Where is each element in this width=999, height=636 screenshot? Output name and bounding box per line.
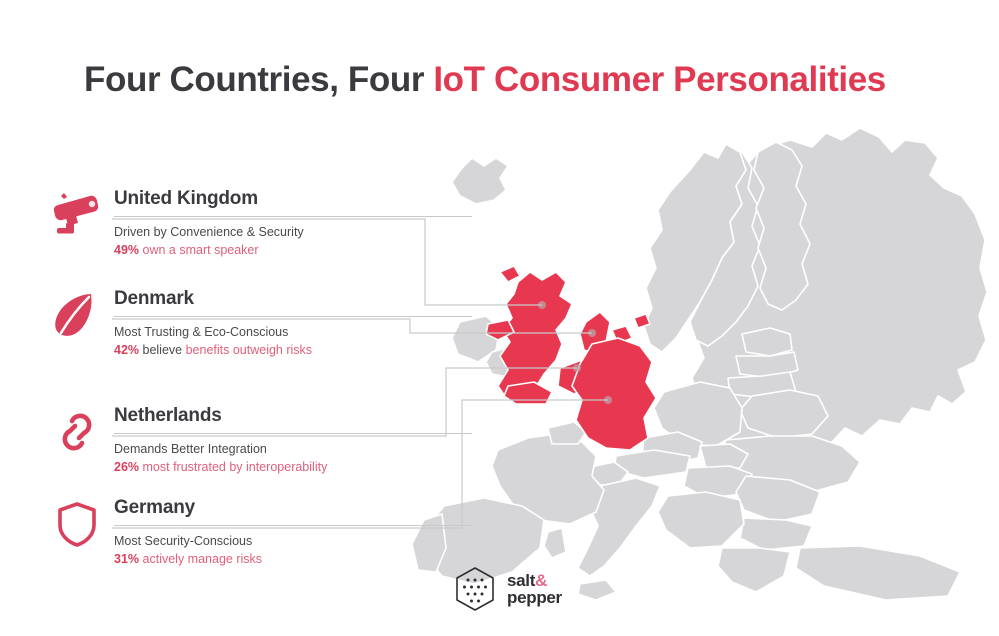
entry-divider (114, 433, 472, 434)
entry-body: Denmark Most Trusting & Eco-Conscious 42… (114, 288, 472, 358)
hexagon-dots-icon (452, 566, 498, 612)
entry-divider (114, 525, 472, 526)
entry-description: Demands Better Integration (114, 441, 472, 457)
entry-denmark: Denmark Most Trusting & Eco-Conscious 42… (52, 288, 472, 358)
stat-tail: own a smart speaker (143, 243, 259, 257)
stat-tail: actively manage risks (143, 552, 263, 566)
country-name: Germany (114, 497, 472, 519)
stat-percentage: 31% (114, 552, 139, 566)
entry-divider (114, 216, 472, 217)
stat-middle: believe (139, 343, 186, 357)
entry-stat: 31% actively manage risks (114, 551, 472, 567)
entry-body: Germany Most Security-Conscious 31% acti… (114, 497, 472, 567)
stat-tail: most frustrated by interoperability (143, 460, 328, 474)
entry-divider (114, 316, 472, 317)
shield-icon (52, 499, 102, 549)
salt-and-pepper-logo: salt& pepper (452, 566, 562, 612)
entry-netherlands: Netherlands Demands Better Integration 2… (52, 405, 472, 475)
entry-stat: 26% most frustrated by interoperability (114, 459, 472, 475)
entry-body: United Kingdom Driven by Convenience & S… (114, 188, 472, 258)
country-name: United Kingdom (114, 188, 472, 210)
stat-percentage: 26% (114, 460, 139, 474)
entry-description: Most Security-Conscious (114, 533, 472, 549)
entry-description: Driven by Convenience & Security (114, 224, 472, 240)
security-camera-icon (52, 190, 102, 240)
logo-wordmark: salt& pepper (507, 572, 562, 606)
entry-description: Most Trusting & Eco-Conscious (114, 324, 472, 340)
entry-germany: Germany Most Security-Conscious 31% acti… (52, 497, 472, 567)
stat-percentage: 42% (114, 343, 139, 357)
chain-link-icon (52, 407, 102, 457)
infographic-canvas: Four Countries, Four IoT Consumer Person… (0, 0, 999, 636)
country-name: Denmark (114, 288, 472, 310)
entry-united-kingdom: United Kingdom Driven by Convenience & S… (52, 188, 472, 258)
country-name: Netherlands (114, 405, 472, 427)
leaf-icon (52, 290, 102, 340)
entry-stat: 49% own a smart speaker (114, 242, 472, 258)
entry-body: Netherlands Demands Better Integration 2… (114, 405, 472, 475)
stat-percentage: 49% (114, 243, 139, 257)
logo-line-2: pepper (507, 589, 562, 606)
stat-tail: benefits outweigh risks (186, 343, 312, 357)
entry-stat: 42% believe benefits outweigh risks (114, 342, 472, 358)
